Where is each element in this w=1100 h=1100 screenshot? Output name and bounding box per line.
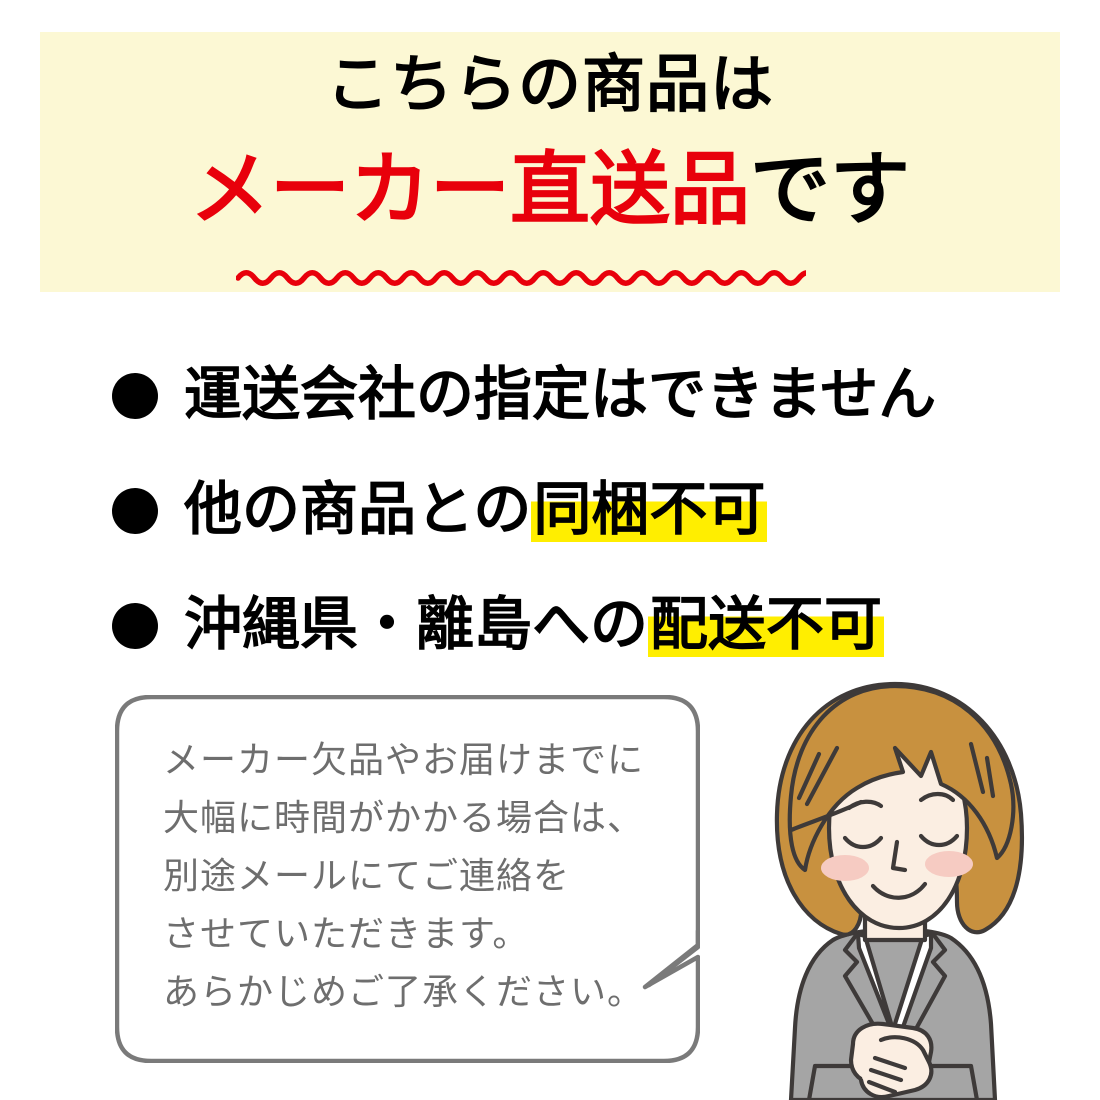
list-item-plain: 他の商品との (184, 477, 531, 542)
bowing-woman-illustration (745, 672, 1100, 1100)
speech-bubble-text: メーカー欠品やお届けまでに 大幅に時間がかかる場合は、 別途メールにてご連絡を … (163, 731, 663, 1021)
list-item-highlight: 同梱不可 (531, 477, 767, 542)
bullet-dot-icon (112, 488, 158, 534)
list-item-highlight: 配送不可 (648, 592, 884, 657)
banner-headline-line2: メーカー直送品です (40, 150, 1060, 230)
banner-headline-line1: こちらの商品は (40, 54, 1060, 117)
list-item: 他の商品との同梱不可 (112, 453, 1032, 568)
header-banner: こちらの商品は メーカー直送品です (40, 32, 1060, 292)
cheek-right (925, 851, 973, 877)
list-item-plain: 運送会社の指定はできません (184, 362, 936, 427)
speech-bubble-line: あらかじめご了承ください。 (163, 963, 663, 1021)
speech-bubble-line: させていただきます。 (163, 905, 663, 963)
cheek-left (821, 855, 869, 881)
speech-bubble-line: メーカー欠品やお届けまでに (163, 731, 663, 789)
list-item: 運送会社の指定はできません (112, 338, 1032, 453)
bullet-dot-icon (112, 603, 158, 649)
banner-headline-suffix: です (750, 145, 910, 234)
restriction-list: 運送会社の指定はできません 他の商品との同梱不可 沖縄県・離島への配送不可 (112, 338, 1032, 683)
speech-bubble-line: 大幅に時間がかかる場合は、 (163, 789, 663, 847)
banner-headline-emphasis: メーカー直送品 (190, 145, 750, 234)
bullet-dot-icon (112, 373, 158, 419)
wavy-underline-decoration (236, 260, 806, 296)
speech-bubble-line: 別途メールにてご連絡を (163, 847, 663, 905)
list-item-text: 沖縄県・離島への配送不可 (184, 595, 884, 656)
list-item-text: 他の商品との同梱不可 (184, 480, 767, 541)
promo-notice-page: こちらの商品は メーカー直送品です 運送会社の指定はできません 他の商品との同梱… (0, 0, 1100, 1100)
list-item-text: 運送会社の指定はできません (184, 365, 936, 426)
speech-bubble: メーカー欠品やお届けまでに 大幅に時間がかかる場合は、 別途メールにてご連絡を … (115, 695, 700, 1063)
list-item-plain: 沖縄県・離島への (184, 592, 648, 657)
list-item: 沖縄県・離島への配送不可 (112, 568, 1032, 683)
